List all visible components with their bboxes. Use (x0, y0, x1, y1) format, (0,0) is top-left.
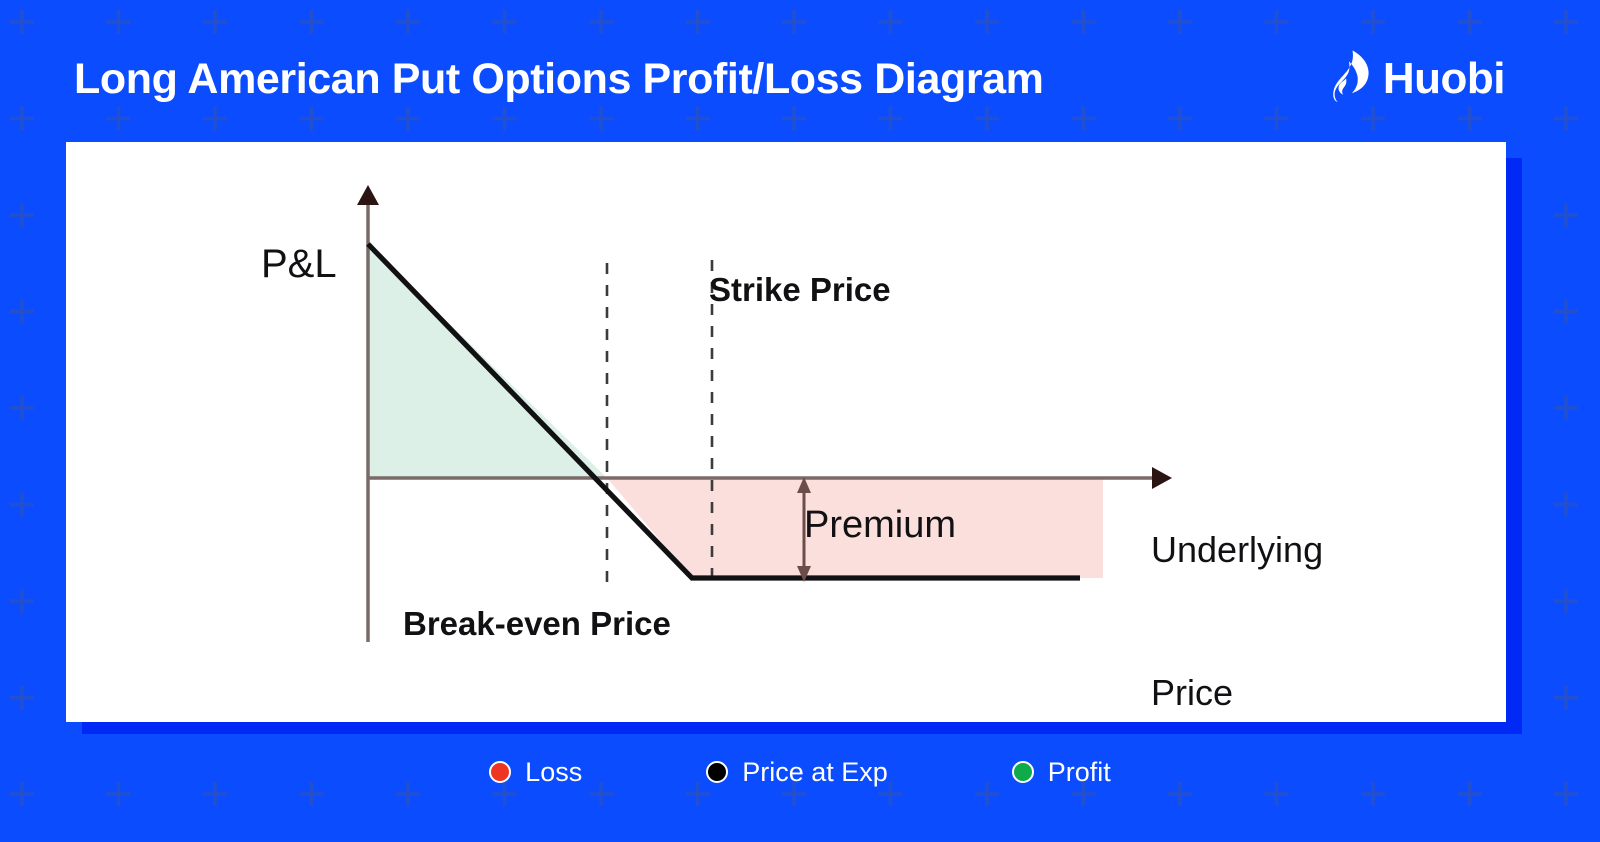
legend-label-loss: Loss (525, 757, 582, 788)
flame-icon (1329, 50, 1369, 107)
brand-logo: Huobi (1329, 50, 1505, 107)
y-axis-label: P&L (261, 242, 337, 287)
legend-item-loss: Loss (489, 757, 582, 788)
chart-legend: Loss Price at Exp Profit (0, 742, 1600, 802)
page-title: Long American Put Options Profit/Loss Di… (74, 55, 1044, 104)
premium-label: Premium (804, 504, 956, 547)
break-even-price-label: Break-even Price (403, 605, 671, 643)
legend-label-profit: Profit (1048, 757, 1111, 788)
x-axis-label-line1: Underlying (1151, 526, 1323, 574)
loss-dot (489, 761, 511, 783)
legend-item-profit: Profit (1012, 757, 1111, 788)
legend-item-price-at-exp: Price at Exp (706, 757, 888, 788)
chart-card: P&L Strike Price Break-even Price Premiu… (66, 142, 1506, 722)
brand-name: Huobi (1383, 54, 1505, 104)
price-at-exp-dot (706, 761, 728, 783)
strike-price-label: Strike Price (709, 271, 891, 309)
legend-label-price-at-exp: Price at Exp (742, 757, 888, 788)
y-axis-arrowhead (357, 185, 379, 205)
profit-dot (1012, 761, 1034, 783)
x-axis-label-line2: Price (1151, 669, 1323, 717)
page-header: Long American Put Options Profit/Loss Di… (0, 0, 1600, 142)
